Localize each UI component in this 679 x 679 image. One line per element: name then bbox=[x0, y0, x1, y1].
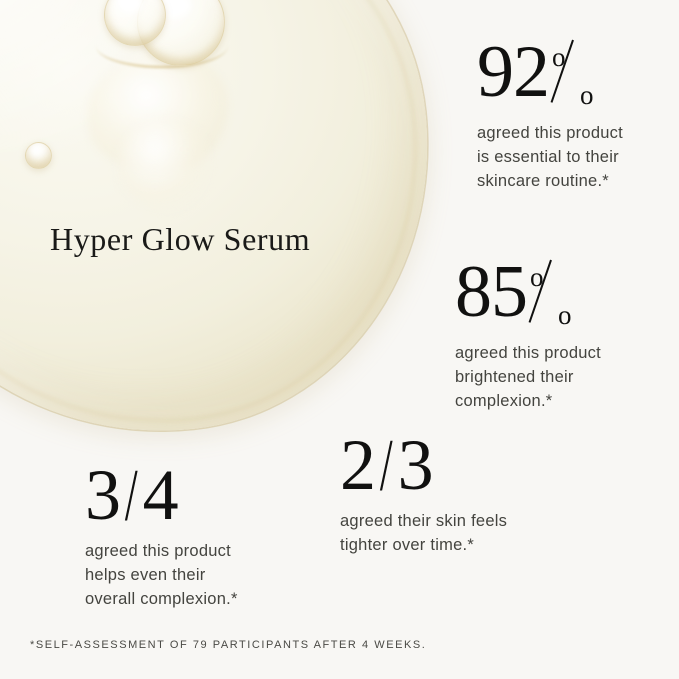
stat-value-85: 85 bbox=[455, 258, 527, 326]
stat-block-92-percent: 92 o o agreed this product is essential … bbox=[477, 38, 623, 193]
stat-numerator-3: 3 bbox=[85, 462, 120, 528]
fraction-slash-icon: / bbox=[124, 462, 138, 530]
stat-figure-two-thirds: 2 / 3 bbox=[340, 432, 507, 500]
stat-figure-85: 85 o o bbox=[455, 258, 601, 332]
stat-block-85-percent: 85 o o agreed this product brightened th… bbox=[455, 258, 601, 413]
stat-numerator-2: 2 bbox=[340, 432, 375, 498]
percent-lower-ring: o bbox=[558, 302, 572, 329]
stat-caption-three-quarters: agreed this product helps even their ove… bbox=[85, 539, 238, 611]
percent-icon: o o bbox=[530, 258, 578, 332]
stat-caption-92: agreed this product is essential to thei… bbox=[477, 121, 623, 193]
stat-denominator-4: 4 bbox=[143, 462, 178, 528]
stat-value-92: 92 bbox=[477, 38, 549, 106]
stat-denominator-3: 3 bbox=[398, 432, 433, 498]
serum-bubble-small bbox=[25, 142, 52, 169]
stat-caption-two-thirds: agreed their skin feels tighter over tim… bbox=[340, 509, 507, 557]
percent-lower-ring: o bbox=[580, 82, 594, 109]
marketing-graphic: Hyper Glow Serum 92 o o agreed this prod… bbox=[0, 0, 679, 679]
fraction-slash-icon: / bbox=[379, 432, 393, 500]
stat-figure-three-quarters: 3 / 4 bbox=[85, 462, 238, 530]
footnote-disclaimer: *SELF-ASSESSMENT OF 79 PARTICIPANTS AFTE… bbox=[30, 639, 426, 651]
stat-block-two-thirds: 2 / 3 agreed their skin feels tighter ov… bbox=[340, 432, 507, 557]
stat-block-three-quarters: 3 / 4 agreed this product helps even the… bbox=[85, 462, 238, 611]
stat-figure-92: 92 o o bbox=[477, 38, 623, 112]
product-title: Hyper Glow Serum bbox=[50, 221, 310, 258]
serum-droplet-smear-secondary bbox=[118, 118, 210, 210]
percent-icon: o o bbox=[552, 38, 600, 112]
stat-caption-85: agreed this product brightened their com… bbox=[455, 341, 601, 413]
